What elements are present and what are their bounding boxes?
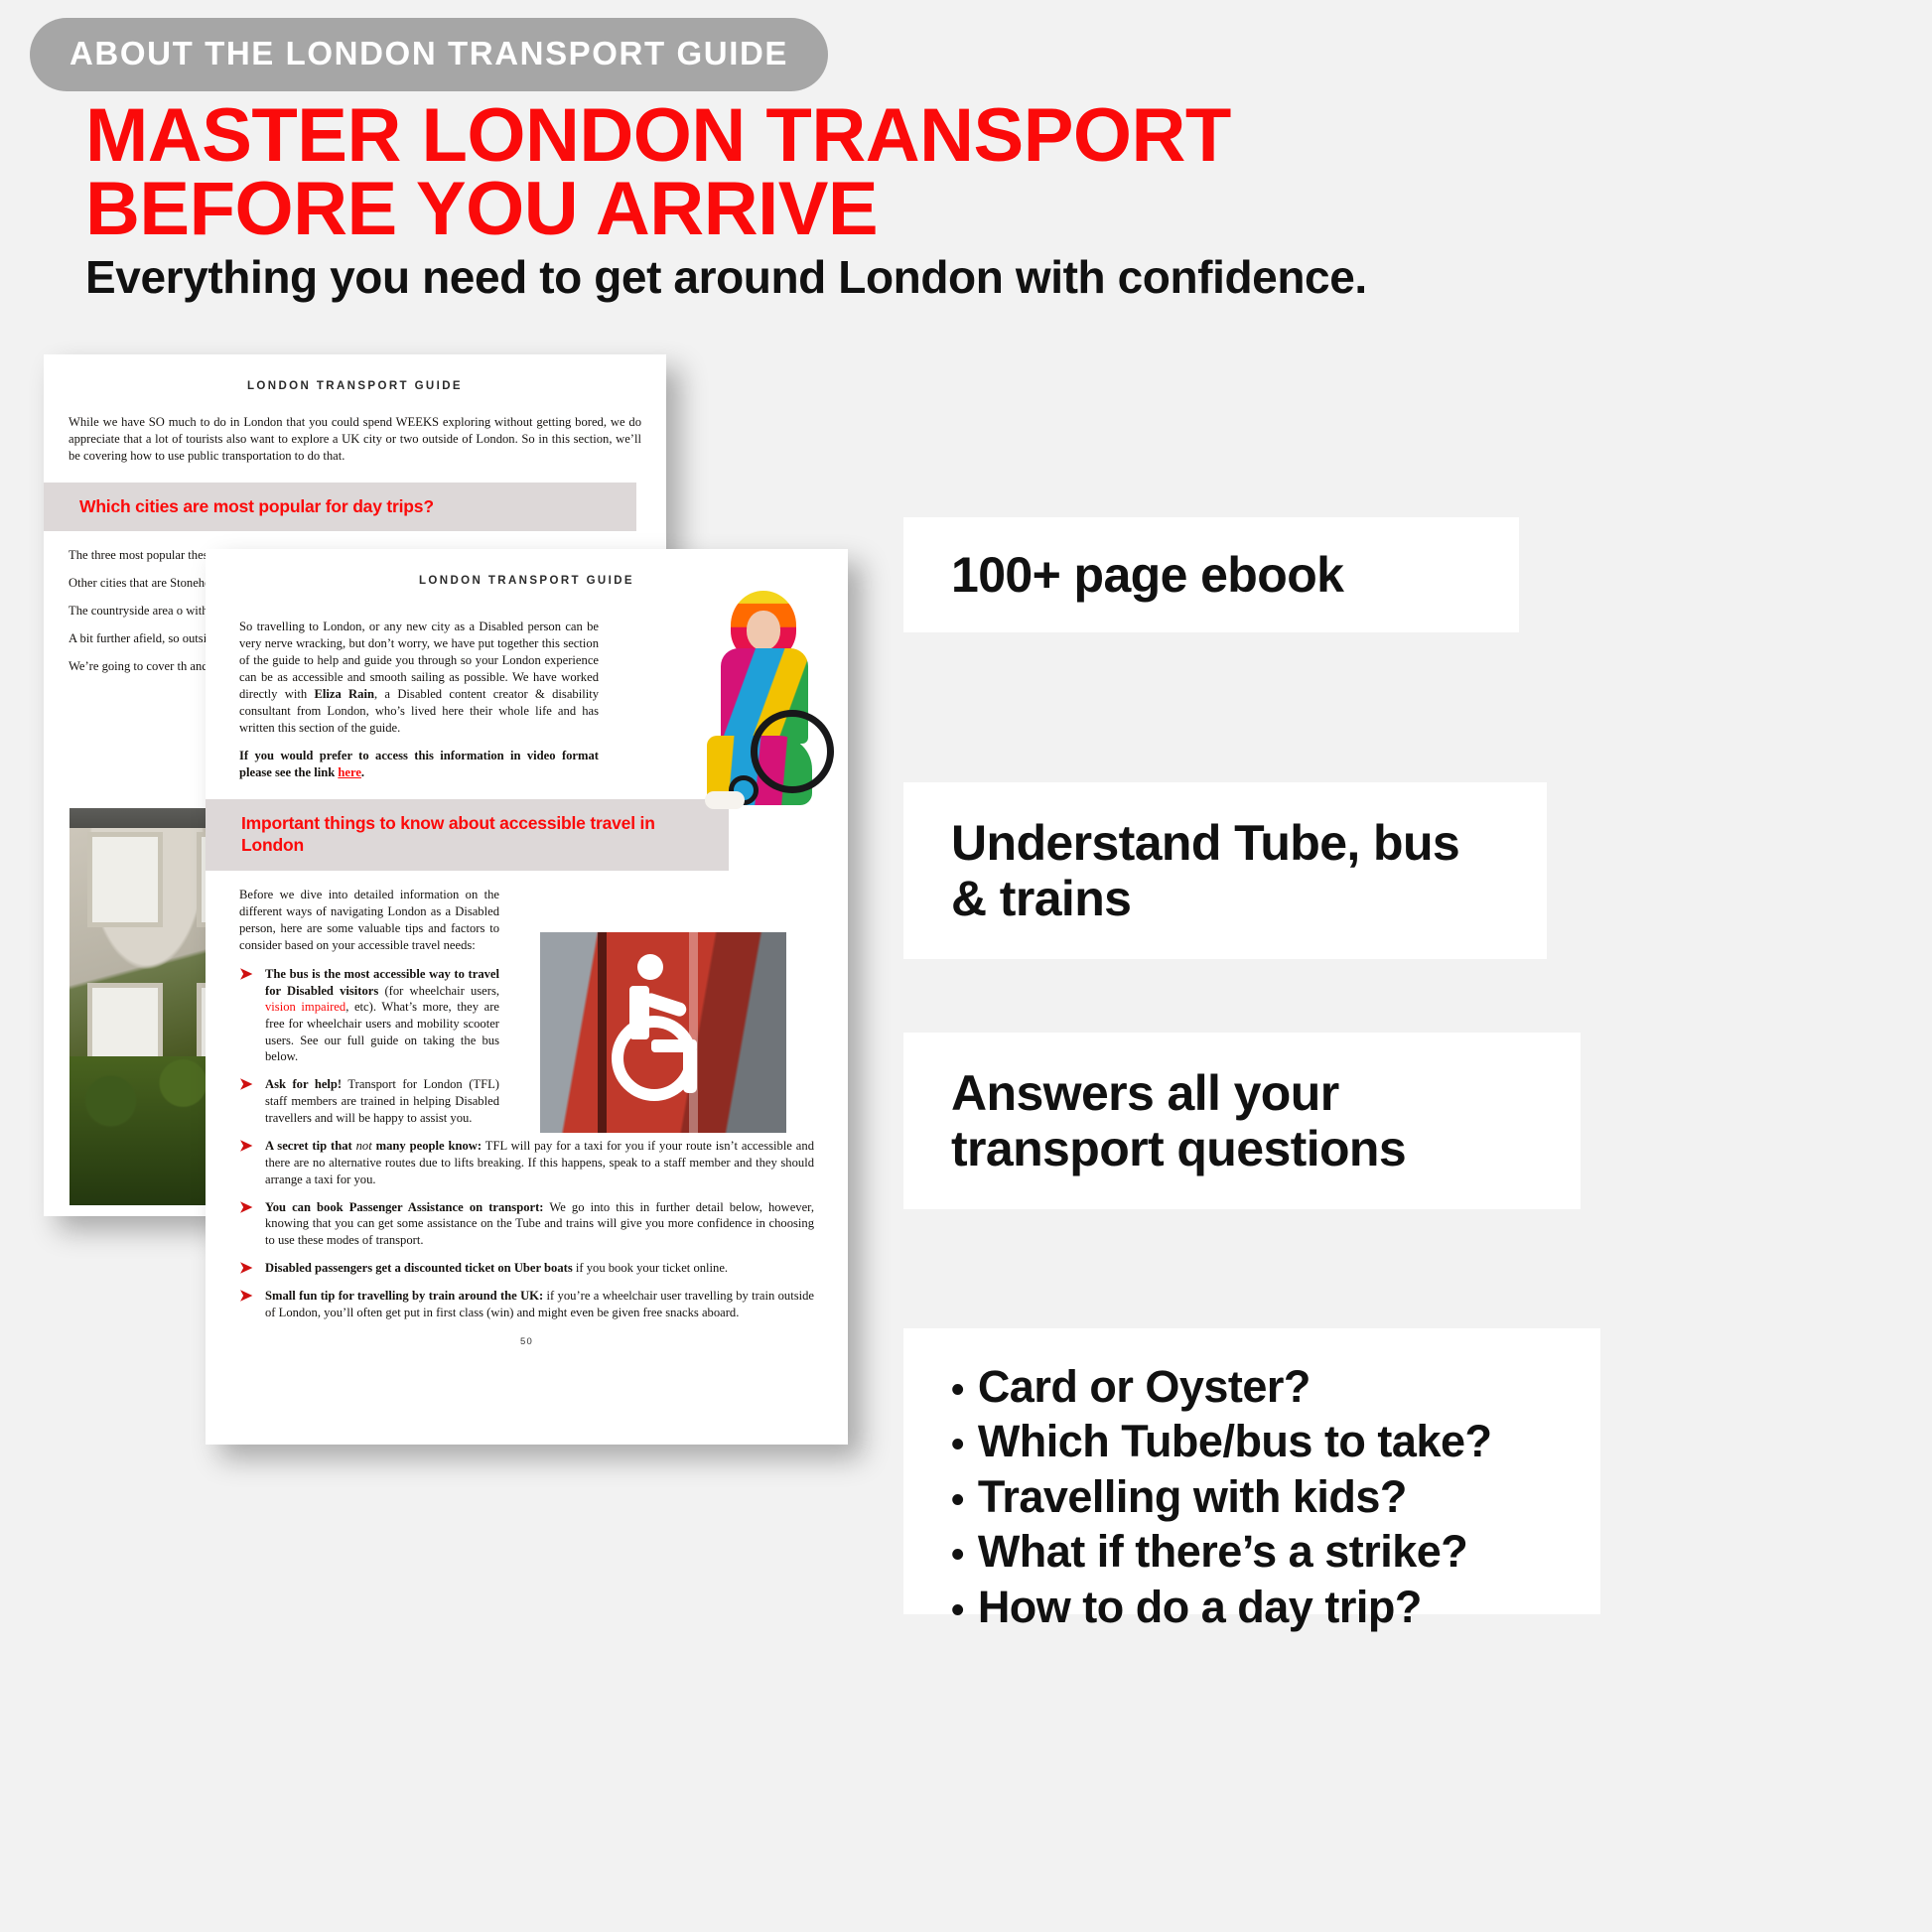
feature-card-label: 100+ page ebook xyxy=(951,547,1343,603)
feature-card-transport-modes[interactable]: Understand Tube, bus & trains xyxy=(903,782,1547,959)
wheelchair-wheel-icon xyxy=(751,710,834,793)
front-section-band: Important things to know about accessibl… xyxy=(206,799,729,871)
front-video-note: If you would prefer to access this infor… xyxy=(239,748,599,781)
front-bullet-list-wide: ➤ A secret tip that not many people know… xyxy=(206,1138,848,1320)
bullet-dot-icon: • xyxy=(951,1481,964,1519)
pictogram-head xyxy=(637,954,663,980)
video-note-period: . xyxy=(361,765,364,779)
list-item: •What if there’s a strike? xyxy=(951,1527,1491,1577)
bullet-text: (for wheelchair users, xyxy=(378,984,499,998)
questions-list: •Card or Oyster? •Which Tube/bus to take… xyxy=(951,1362,1491,1637)
arrow-icon: ➤ xyxy=(239,1288,256,1320)
bullet-bold-lead-2: many people know: xyxy=(376,1139,482,1153)
list-item: ➤ Small fun tip for travelling by train … xyxy=(239,1288,814,1320)
feature-card-ebook[interactable]: 100+ page ebook xyxy=(903,517,1519,632)
list-item: •Travelling with kids? xyxy=(951,1472,1491,1522)
list-item: ➤ You can book Passenger Assistance on t… xyxy=(239,1199,814,1249)
bullet-dot-icon: • xyxy=(951,1536,964,1574)
list-item: ➤ A secret tip that not many people know… xyxy=(239,1138,814,1187)
document-preview-page-front[interactable]: LONDON TRANSPORT GUIDE So travelling to … xyxy=(206,549,848,1445)
arrow-icon: ➤ xyxy=(239,1260,256,1277)
front-section-heading: Important things to know about accessibl… xyxy=(241,812,693,857)
arrow-icon: ➤ xyxy=(239,1138,256,1187)
feature-card-questions[interactable]: •Card or Oyster? •Which Tube/bus to take… xyxy=(903,1328,1600,1614)
list-item: •Which Tube/bus to take? xyxy=(951,1417,1491,1466)
back-section-band: Which cities are most popular for day tr… xyxy=(44,483,636,531)
pictogram-leg xyxy=(683,1045,697,1093)
eyebrow-badge: ABOUT THE LONDON TRANSPORT GUIDE xyxy=(30,18,828,91)
bullet-dot-icon: • xyxy=(951,1371,964,1409)
window-shape xyxy=(87,832,163,927)
question-label: Which Tube/bus to take? xyxy=(978,1417,1492,1466)
question-label: What if there’s a strike? xyxy=(978,1527,1467,1577)
feature-card-answers[interactable]: Answers all your transport questions xyxy=(903,1033,1581,1209)
document-brand-label: LONDON TRANSPORT GUIDE xyxy=(44,380,666,392)
question-label: Travelling with kids? xyxy=(978,1472,1407,1522)
feature-card-label: Answers all your transport questions xyxy=(951,1065,1533,1176)
accessible-door-photo xyxy=(540,932,786,1133)
bullet-bold-lead: A secret tip that xyxy=(265,1139,352,1153)
back-intro-paragraph: While we have SO much to do in London th… xyxy=(69,414,641,465)
face-shape xyxy=(747,611,780,650)
question-label: How to do a day trip? xyxy=(978,1583,1422,1632)
bullet-bold-lead: You can book Passenger Assistance on tra… xyxy=(265,1200,543,1214)
list-item: •How to do a day trip? xyxy=(951,1583,1491,1632)
video-link[interactable]: here xyxy=(338,765,361,779)
arrow-icon: ➤ xyxy=(239,1199,256,1249)
bullet-bold-lead: Small fun tip for travelling by train ar… xyxy=(265,1289,543,1303)
back-section-heading: Which cities are most popular for day tr… xyxy=(79,495,601,517)
page-title: MASTER LONDON TRANSPORT BEFORE YOU ARRIV… xyxy=(85,99,1495,247)
bullet-dot-icon: • xyxy=(951,1426,964,1463)
arrow-icon: ➤ xyxy=(239,966,256,1065)
page-number: 50 xyxy=(206,1336,848,1347)
wheelchair-accessible-icon xyxy=(578,954,747,1113)
arrow-icon: ➤ xyxy=(239,1076,256,1126)
question-label: Card or Oyster? xyxy=(978,1362,1311,1412)
front-bullet-list-narrow: ➤ The bus is the most accessible way to … xyxy=(206,966,533,1127)
list-item: •Card or Oyster? xyxy=(951,1362,1491,1412)
front-lead-paragraph: Before we dive into detailed information… xyxy=(239,887,499,954)
bullet-text: if you book your ticket online. xyxy=(573,1261,728,1275)
feature-card-label: Understand Tube, bus & trains xyxy=(951,815,1499,926)
list-item: ➤ The bus is the most accessible way to … xyxy=(239,966,499,1065)
list-item: ➤ Disabled passengers get a discounted t… xyxy=(239,1260,814,1277)
bullet-italic: not xyxy=(356,1139,372,1153)
bullet-dot-icon: • xyxy=(951,1591,964,1629)
document-brand-label: LONDON TRANSPORT GUIDE xyxy=(206,575,848,587)
page-subtitle: Everything you need to get around London… xyxy=(85,250,1525,304)
eliza-rain-photo xyxy=(685,591,840,827)
bullet-red-text: vision impaired xyxy=(265,1000,345,1014)
bullet-bold-lead: Disabled passengers get a discounted tic… xyxy=(265,1261,573,1275)
list-item: ➤ Ask for help! Transport for London (TF… xyxy=(239,1076,499,1126)
front-intro-name: Eliza Rain xyxy=(314,687,374,701)
bullet-bold-lead: Ask for help! xyxy=(265,1077,342,1091)
front-intro-paragraph: So travelling to London, or any new city… xyxy=(239,619,599,737)
shoe-shape xyxy=(705,791,745,809)
video-note-text: If you would prefer to access this infor… xyxy=(239,749,599,779)
